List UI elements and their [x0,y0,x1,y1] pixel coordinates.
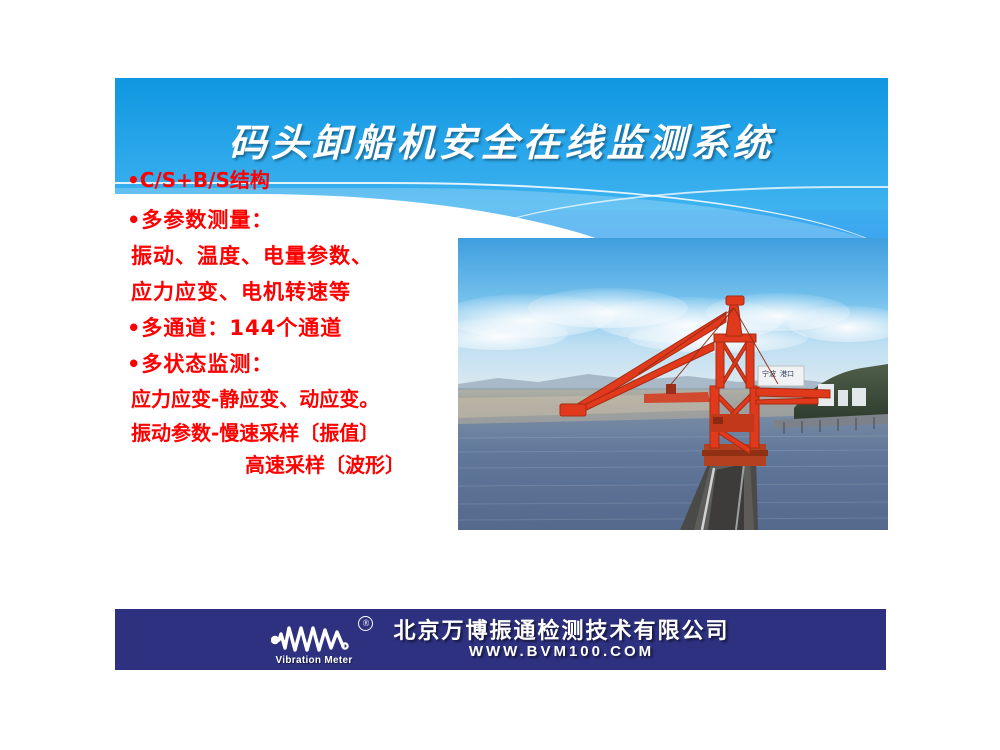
bullet-detail-parameters-2: 应力应变、电机转速等 [127,282,477,303]
footer-bar: ® Vibration Meter 北京万博振通检测技术有限公司 WWW.BVM… [115,609,886,670]
photo-artwork: 宁波 港口 [458,238,888,530]
slide-canvas: 码头卸船机安全在线监测系统 •C/S+B/S结构 •多参数测量： 振动、温度、电… [115,78,888,609]
photo-ship-unloader: 宁波 港口 [458,238,888,530]
bullet-detail-strain: 应力应变-静应变、动应变。 [127,389,477,409]
logo-subtitle: Vibration Meter [275,655,352,666]
company-name: 北京万博振通检测技术有限公司 [393,620,729,643]
registered-trademark-icon: ® [358,616,373,631]
bullet-detail-vibration-fast: 高速采样〔波形〕 [127,455,477,475]
bullet-detail-vibration-slow: 振动参数-慢速采样〔振值〕 [127,423,477,443]
vibration-wave-icon [271,622,371,654]
footer-text-block: 北京万博振通检测技术有限公司 WWW.BVM100.COM [393,620,729,660]
bullet-detail-parameters-1: 振动、温度、电量参数、 [127,246,477,267]
bullet-item-channels: •多通道：144个通道 [127,318,477,339]
bullet-item-architecture: •C/S+B/S结构 [127,170,477,190]
bullet-item-multiparameter: •多参数测量： [127,210,477,231]
svg-text:港口: 港口 [780,369,794,378]
bullet-list: •C/S+B/S结构 •多参数测量： 振动、温度、电量参数、 应力应变、电机转速… [127,170,477,475]
company-website: WWW.BVM100.COM [393,644,729,660]
company-logo: ® Vibration Meter [271,616,379,664]
bullet-item-multistate: •多状态监测： [127,354,477,375]
slide-title: 码头卸船机安全在线监测系统 [115,112,888,167]
